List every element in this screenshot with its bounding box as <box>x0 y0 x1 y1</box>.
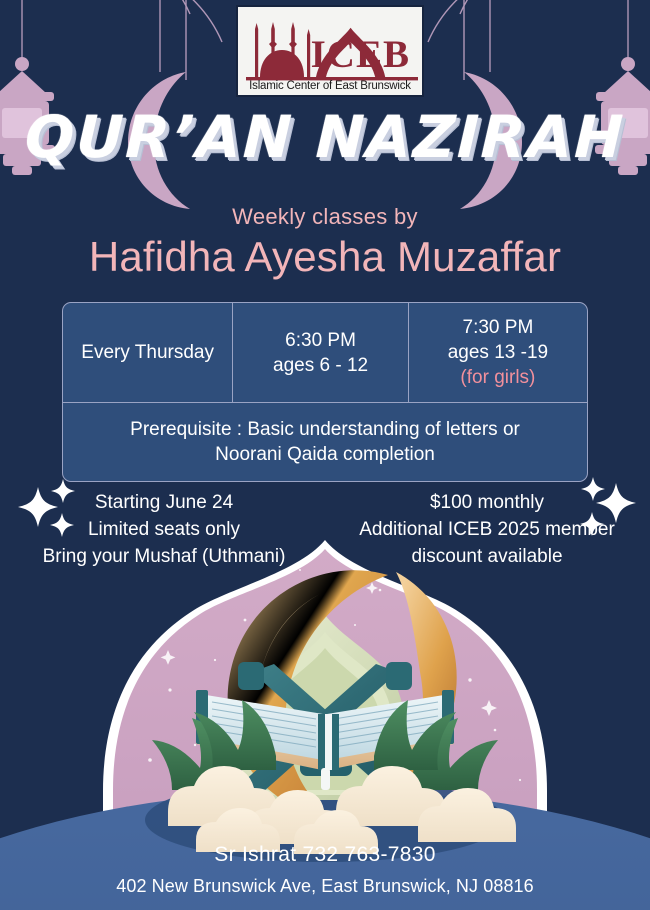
page-title: QUR’AN NAZIRAH <box>0 108 650 166</box>
flyer-canvas: ICEB Islamic Center of East Brunswick QU… <box>0 0 650 910</box>
schedule-table: Every Thursday 6:30 PM ages 6 - 12 7:30 … <box>62 302 588 482</box>
subtitle-prefix: Weekly classes by <box>0 204 650 230</box>
senior-time: 7:30 PM <box>463 315 534 340</box>
senior-note: (for girls) <box>460 365 535 390</box>
venue-address: 402 New Brunswick Ave, East Brunswick, N… <box>0 876 650 897</box>
instructor-name: Hafidha Ayesha Muzaffar <box>0 232 650 282</box>
monthly-price: $100 monthly <box>332 490 642 517</box>
contact-phone: Sr Ishrat 732 763-7830 <box>0 843 650 867</box>
session-senior-cell: 7:30 PM ages 13 -19 (for girls) <box>409 303 587 402</box>
seats-note: Limited seats only <box>14 517 314 544</box>
logo-acronym: ICEB <box>311 35 410 74</box>
mushaf-note: Bring your Mushaf (Uthmani) <box>14 544 314 571</box>
junior-ages: ages 6 - 12 <box>273 353 368 378</box>
table-row: Every Thursday 6:30 PM ages 6 - 12 7:30 … <box>63 303 587 403</box>
iceb-logo: ICEB Islamic Center of East Brunswick <box>236 5 424 97</box>
prerequisite-line-1: Prerequisite : Basic understanding of le… <box>130 417 520 442</box>
table-row: Prerequisite : Basic understanding of le… <box>63 403 587 481</box>
start-date: Starting June 24 <box>14 490 314 517</box>
senior-ages: ages 13 -19 <box>448 340 548 365</box>
prerequisite-line-2: Noorani Qaida completion <box>215 442 435 467</box>
logo-tagline: Islamic Center of East Brunswick <box>238 80 422 92</box>
prerequisite-cell: Prerequisite : Basic understanding of le… <box>63 403 587 481</box>
junior-time: 6:30 PM <box>285 328 356 353</box>
member-discount-line-2: discount available <box>332 544 642 571</box>
enrollment-info: Starting June 24 Limited seats only Brin… <box>14 490 314 571</box>
schedule-day: Every Thursday <box>81 340 214 365</box>
pricing-info: $100 monthly Additional ICEB 2025 member… <box>332 490 642 571</box>
session-junior-cell: 6:30 PM ages 6 - 12 <box>233 303 409 402</box>
member-discount-line-1: Additional ICEB 2025 member <box>332 517 642 544</box>
schedule-day-cell: Every Thursday <box>63 303 233 402</box>
